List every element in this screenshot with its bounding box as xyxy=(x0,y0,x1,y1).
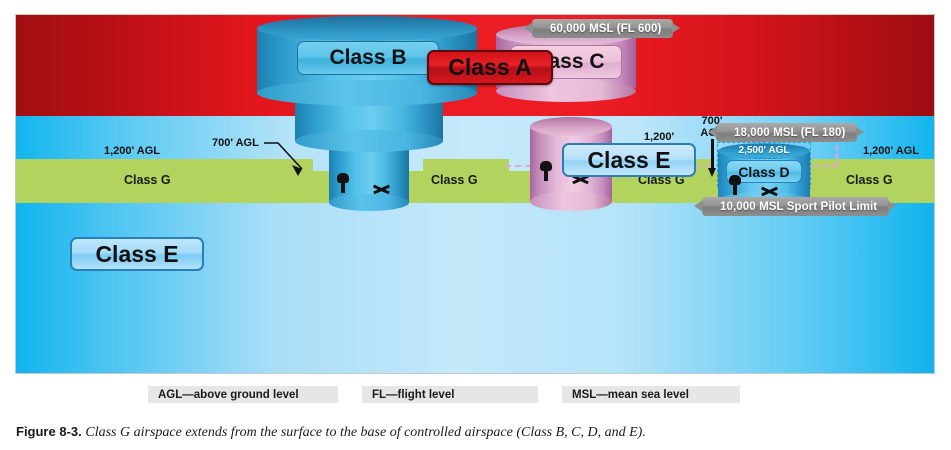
agl-700-leader-arrow xyxy=(262,139,320,181)
agl-label-left-700: 700' AGL xyxy=(212,137,259,149)
class-b-tower-icon xyxy=(337,173,349,193)
agl-label-left-1200: 1,200' AGL xyxy=(104,145,160,157)
class-g-label-mid: Class G xyxy=(431,173,478,187)
class-e-upper-label: Class E xyxy=(562,143,696,177)
class-d-ceiling-label: 2,500' AGL xyxy=(717,145,811,156)
class-g-label-right: Class G xyxy=(846,173,893,187)
agl-label-right-1200: 1,200' AGL xyxy=(863,145,919,157)
class-e-lower-label: Class E xyxy=(70,237,204,271)
class-e-lower-band xyxy=(16,202,934,374)
class-d-tower-icon xyxy=(729,175,741,195)
altitude-banner-18000: 18,000 MSL (FL 180) xyxy=(716,123,857,142)
altitude-banner-60000: 60,000 MSL (FL 600) xyxy=(532,19,673,38)
class-c-tower-icon xyxy=(540,161,552,181)
agl-mid-1200-line1: 1,200' xyxy=(644,131,674,143)
figure-root: Class B 4,000' AGL Class xyxy=(0,0,951,450)
class-d-airspace: 2,500' AGL Class D xyxy=(717,15,811,203)
class-a-label: Class A xyxy=(427,50,553,85)
legend-msl: MSL—mean sea level xyxy=(562,386,740,403)
figure-caption-text: Class G airspace extends from the surfac… xyxy=(85,425,645,440)
class-d-veil-dash-vert xyxy=(836,145,838,167)
class-b-label: Class B xyxy=(297,41,439,75)
figure-caption: Figure 8-3. Class G airspace extends fro… xyxy=(16,424,646,441)
legend-agl: AGL—above ground level xyxy=(148,386,338,403)
legend-fl: FL—flight level xyxy=(362,386,538,403)
class-b-runway-icon xyxy=(373,183,390,196)
airspace-diagram: Class B 4,000' AGL Class xyxy=(15,14,935,374)
altitude-banner-10000: 10,000 MSL Sport Pilot Limit xyxy=(702,197,889,216)
class-g-label-left: Class G xyxy=(124,173,171,187)
figure-number: Figure 8-3. xyxy=(16,424,82,439)
agl-mid-700-arrow xyxy=(708,139,717,177)
